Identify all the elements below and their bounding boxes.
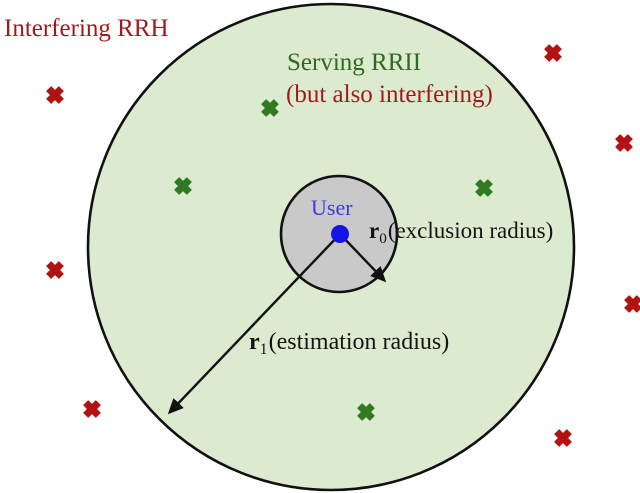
figure-canvas: Interfering RRH Serving RRII (but also i…	[0, 0, 640, 493]
exclusion-radius-label: r0(exclusion radius)	[369, 219, 553, 247]
interfering-rrh-marker-icon	[46, 86, 64, 104]
interfering-rrh-label: Interfering RRH	[4, 16, 169, 42]
serving-rrh-label: Serving RRII	[287, 50, 421, 76]
but-also-interfering-label: (but also interfering)	[286, 82, 493, 108]
interfering-rrh-marker-icon	[615, 134, 633, 152]
r0-symbol: r	[369, 218, 379, 243]
r1-subscript: 1	[260, 341, 269, 358]
r0-subscript: 0	[379, 230, 388, 247]
user-label: User	[311, 196, 353, 219]
user-dot-icon	[331, 225, 349, 243]
interfering-rrh-marker-icon	[46, 261, 64, 279]
interfering-rrh-marker-icon	[544, 44, 562, 62]
r1-description: (estimation radius)	[269, 329, 450, 355]
estimation-radius-label: r1(estimation radius)	[249, 330, 449, 359]
r0-description: (exclusion radius)	[388, 218, 553, 243]
interfering-rrh-marker-icon	[624, 295, 640, 313]
interfering-rrh-marker-icon	[83, 400, 101, 418]
r1-symbol: r	[249, 329, 260, 355]
interfering-rrh-marker-icon	[554, 429, 572, 447]
